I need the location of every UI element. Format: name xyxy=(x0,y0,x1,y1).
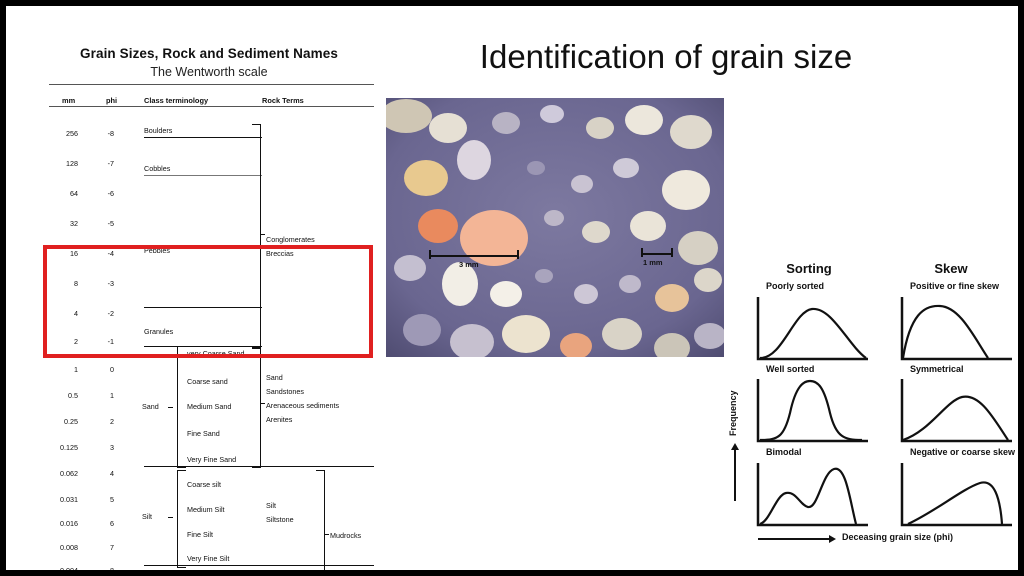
row-phi: 6 xyxy=(94,519,114,528)
scale-bar-1mm-label: 1 mm xyxy=(643,258,663,267)
x-axis-label: Deceasing grain size (phi) xyxy=(842,532,953,542)
row-mm: 0.25 xyxy=(44,417,78,426)
grain-photo: 3 mm 1 mm xyxy=(386,98,724,357)
x-axis-arrow-head xyxy=(829,535,836,543)
group-tick-sand xyxy=(168,407,173,408)
group-label-silt: Silt xyxy=(142,512,152,521)
chart-caption-bimodal: Bimodal xyxy=(766,447,802,457)
chart-bimodal xyxy=(752,459,872,531)
x-axis-arrow-shaft xyxy=(758,538,830,540)
y-axis-arrow-head xyxy=(731,443,739,450)
chart-symmetrical xyxy=(896,375,1016,447)
row-mm: 1 xyxy=(44,365,78,374)
column-header-phi: phi xyxy=(106,96,117,105)
column-header-class: Class terminology xyxy=(144,96,208,105)
rock-term-conglomerates: Conglomerates xyxy=(266,235,315,244)
scale-bar-1mm-cap-right xyxy=(671,248,673,257)
row-phi: -6 xyxy=(94,189,114,198)
chart-positive-skew xyxy=(896,293,1016,365)
wentworth-title: Grain Sizes, Rock and Sediment Names xyxy=(44,46,374,61)
panel-heading-skew: Skew xyxy=(896,261,1006,276)
row-mm: 0.004 xyxy=(44,566,78,575)
row-phi: -7 xyxy=(94,159,114,168)
divider-boulders xyxy=(144,137,262,138)
highlight-box xyxy=(43,245,373,358)
column-header-rock: Rock Terms xyxy=(262,96,304,105)
scale-bar-1mm-cap-left xyxy=(641,248,643,257)
chart-caption-negative-skew: Negative or coarse skew xyxy=(910,447,1015,457)
row-phi: 2 xyxy=(94,417,114,426)
class-label-coarse-silt: Coarse silt xyxy=(187,480,221,489)
class-label-fine-sand: Fine Sand xyxy=(187,429,220,438)
divider-cobbles xyxy=(144,175,262,176)
chart-negative-skew xyxy=(896,459,1016,531)
rock-term-arenites: Arenites xyxy=(266,415,292,424)
chart-caption-symmetrical: Symmetrical xyxy=(910,364,964,374)
bracket-silt-group xyxy=(177,470,186,568)
rock-term-silt: Silt xyxy=(266,501,276,510)
row-mm: 32 xyxy=(44,219,78,228)
rock-term-siltstone: Siltstone xyxy=(266,515,294,524)
rule-header xyxy=(49,106,374,107)
bracket-tick-sandstones xyxy=(260,403,265,404)
class-label-coarse-sand: Coarse sand xyxy=(187,377,228,386)
rock-term-sandstones: Sandstones xyxy=(266,387,304,396)
row-mm: 0.5 xyxy=(44,391,78,400)
row-phi: 0 xyxy=(94,365,114,374)
chart-well-sorted xyxy=(752,375,872,447)
scale-bar-3mm-label: 3 mm xyxy=(459,260,479,269)
row-mm: 0.008 xyxy=(44,543,78,552)
class-label-very-fine-silt: Very Fine Silt xyxy=(187,554,229,563)
row-phi: -5 xyxy=(94,219,114,228)
class-label-fine-silt: Fine Silt xyxy=(187,530,213,539)
row-phi: 8 xyxy=(94,566,114,575)
rule-top xyxy=(49,84,374,85)
row-phi: 7 xyxy=(94,543,114,552)
row-phi: 3 xyxy=(94,443,114,452)
chart-caption-well-sorted: Well sorted xyxy=(766,364,814,374)
rock-term-mudrocks: Mudrocks xyxy=(330,531,361,540)
bracket-mudrocks xyxy=(316,470,325,576)
grain-photo-canvas xyxy=(386,98,724,357)
row-phi: 1 xyxy=(94,391,114,400)
bracket-tick-mudrocks xyxy=(324,534,329,535)
row-mm: 256 xyxy=(44,129,78,138)
row-mm: 0.016 xyxy=(44,519,78,528)
row-phi: -8 xyxy=(94,129,114,138)
rock-term-arenaceous-sediments: Arenaceous sediments xyxy=(266,401,339,410)
scale-bar-3mm-cap-left xyxy=(429,250,431,259)
page-title: Identification of grain size xyxy=(406,38,926,76)
bracket-tick-conglomerates xyxy=(260,234,265,235)
row-mm: 128 xyxy=(44,159,78,168)
row-phi: 4 xyxy=(94,469,114,478)
chart-caption-positive-skew: Positive or fine skew xyxy=(910,281,999,291)
row-mm: 0.125 xyxy=(44,443,78,452)
scale-bar-3mm-line xyxy=(429,255,519,257)
scale-bar-1mm-line xyxy=(641,253,673,255)
column-header-mm: mm xyxy=(62,96,75,105)
chart-caption-poorly-sorted: Poorly sorted xyxy=(766,281,824,291)
row-mm: 0.031 xyxy=(44,495,78,504)
group-label-sand: Sand xyxy=(142,402,159,411)
panel-heading-sorting: Sorting xyxy=(754,261,864,276)
class-label-cobbles: Cobbles xyxy=(144,164,170,173)
rock-term-sand: Sand xyxy=(266,373,283,382)
class-label-very-fine-sand: Very Fine Sand xyxy=(187,455,236,464)
scale-bar-3mm-cap-right xyxy=(517,250,519,259)
group-tick-silt xyxy=(168,517,173,518)
chart-poorly-sorted xyxy=(752,293,872,365)
class-label-medium-sand: Medium Sand xyxy=(187,402,231,411)
bracket-sandstones xyxy=(252,348,261,468)
sorting-skew-panel: Sorting Skew Frequency Poorly sorted Pos… xyxy=(724,261,1024,556)
class-label-boulders: Boulders xyxy=(144,126,172,135)
row-mm: 64 xyxy=(44,189,78,198)
row-mm: 0.062 xyxy=(44,469,78,478)
slide: Grain Sizes, Rock and Sediment Names The… xyxy=(0,0,1024,576)
wentworth-subtitle: The Wentworth scale xyxy=(44,65,374,79)
y-axis-arrow-shaft xyxy=(734,449,736,501)
class-label-medium-silt: Medium Silt xyxy=(187,505,225,514)
y-axis-label: Frequency xyxy=(728,390,738,436)
row-phi: 5 xyxy=(94,495,114,504)
bracket-sand-group xyxy=(177,346,186,468)
